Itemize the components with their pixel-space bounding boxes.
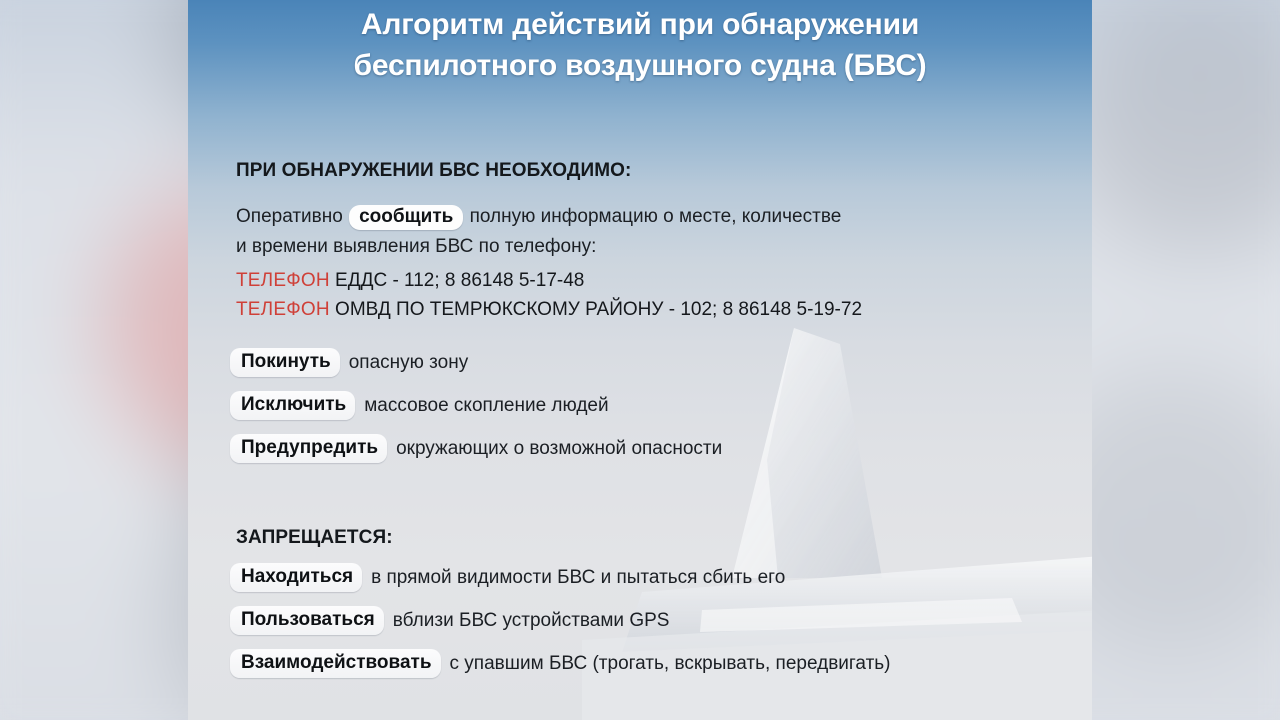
required-section-heading: ПРИ ОБНАРУЖЕНИИ БВС НЕОБХОДИМО:	[236, 160, 1080, 182]
poster-title: Алгоритм действий при обнаружении беспил…	[188, 4, 1092, 86]
action-text: массовое скопление людей	[364, 395, 608, 417]
phone-value: ЕДДС - 112; 8 86148 5-17-48	[335, 270, 584, 291]
screenshot-stage: Алгоритм действий при обнаружении беспил…	[0, 0, 1280, 720]
prohibited-section-heading: ЗАПРЕЩАЕТСЯ:	[236, 527, 1080, 549]
title-line-1: Алгоритм действий при обнаружении	[206, 4, 1074, 45]
poster-content: ПРИ ОБНАРУЖЕНИИ БВС НЕОБХОДИМО: Оператив…	[236, 160, 1080, 678]
prohibited-tag: Находиться	[230, 563, 362, 592]
infographic-poster: Алгоритм действий при обнаружении беспил…	[188, 0, 1092, 720]
highlight-soobshchit: сообщить	[349, 205, 463, 230]
required-action-list: Покинуть опасную зону Исключить массовое…	[236, 348, 1080, 463]
list-item: Покинуть опасную зону	[236, 348, 1080, 377]
list-item: Исключить массовое скопление людей	[236, 391, 1080, 420]
phone-label-icon: ТЕЛЕФОН	[236, 299, 330, 320]
phone-row: ТЕЛЕФОН ОМВД ПО ТЕМРЮКСКОМУ РАЙОНУ - 102…	[236, 295, 1080, 324]
intro-text-before: Оперативно	[236, 206, 343, 227]
phone-list: ТЕЛЕФОН ЕДДС - 112; 8 86148 5-17-48 ТЕЛЕ…	[236, 266, 1080, 324]
required-intro-line-1: Оперативно сообщить полную информацию о …	[236, 202, 1080, 232]
prohibited-text: с упавшим БВС (трогать, вскрывать, перед…	[450, 653, 891, 675]
prohibited-list: Находиться в прямой видимости БВС и пыта…	[236, 563, 1080, 678]
action-text: опасную зону	[349, 352, 469, 374]
action-tag: Покинуть	[230, 348, 340, 377]
intro-text-after: полную информацию о месте, количестве	[470, 206, 842, 227]
section-spacer	[236, 463, 1080, 527]
required-intro-paragraph: Оперативно сообщить полную информацию о …	[236, 202, 1080, 262]
prohibited-text: в прямой видимости БВС и пытаться сбить …	[371, 567, 785, 589]
list-item: Взаимодействовать с упавшим БВС (трогать…	[236, 649, 1080, 678]
action-tag: Предупредить	[230, 434, 387, 463]
phone-label-icon: ТЕЛЕФОН	[236, 270, 330, 291]
title-line-2: беспилотного воздушного судна (БВС)	[206, 45, 1074, 86]
prohibited-tag: Пользоваться	[230, 606, 384, 635]
list-item: Находиться в прямой видимости БВС и пыта…	[236, 563, 1080, 592]
list-item: Пользоваться вблизи БВС устройствами GPS	[236, 606, 1080, 635]
action-text: окружающих о возможной опасности	[396, 438, 722, 460]
phone-row: ТЕЛЕФОН ЕДДС - 112; 8 86148 5-17-48	[236, 266, 1080, 295]
prohibited-tag: Взаимодействовать	[230, 649, 441, 678]
phone-value: ОМВД ПО ТЕМРЮКСКОМУ РАЙОНУ - 102; 8 8614…	[335, 299, 862, 320]
list-item: Предупредить окружающих о возможной опас…	[236, 434, 1080, 463]
action-tag: Исключить	[230, 391, 355, 420]
prohibited-text: вблизи БВС устройствами GPS	[393, 610, 670, 632]
required-intro-line-2: и времени выявления БВС по телефону:	[236, 232, 1080, 262]
